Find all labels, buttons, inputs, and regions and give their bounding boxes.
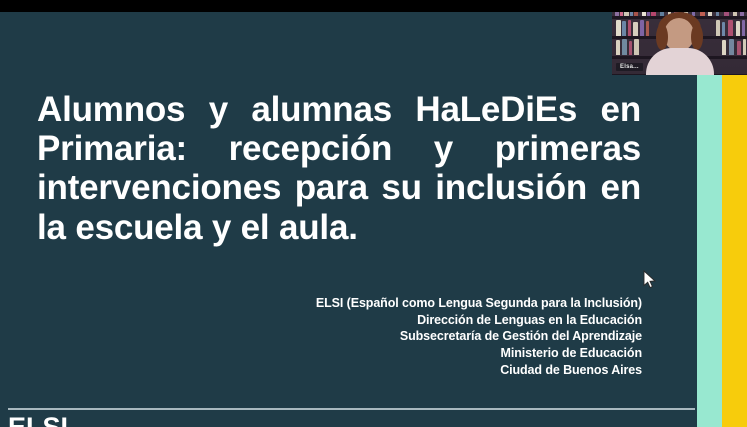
affiliation-line-1: ELSI (Español como Lengua Segunda para l… [316,295,642,312]
book [640,20,644,36]
book [616,20,621,36]
screen-share-view: Alumnos y alumnas HaLeDiEs en Primaria: … [0,0,747,427]
book [737,41,741,55]
affiliation-line-4: Ministerio de Educación [316,345,642,362]
book [629,41,632,55]
letterbox-bar-top [0,0,747,12]
book [728,20,733,36]
book [743,39,746,55]
book [742,20,745,36]
slide-divider-rule [8,408,695,410]
webcam-participant-hair-left [656,24,668,50]
book [622,39,627,55]
webcam-participant-head [664,18,694,51]
webcam-participant-name-label: Elsa... [616,63,643,71]
webcam-participant-hair-right [691,24,703,50]
book [646,21,649,36]
book [729,39,734,55]
book [634,39,639,55]
book [722,22,725,36]
book [716,20,720,36]
affiliation-line-5: Ciudad de Buenos Aires [316,362,642,379]
slide-affiliation-block: ELSI (Español como Lengua Segunda para l… [316,295,642,378]
slide-footer-text: ELSI [8,414,308,427]
book [633,22,638,36]
affiliation-line-2: Dirección de Lenguas en la Educación [316,312,642,329]
presentation-slide: Alumnos y alumnas HaLeDiEs en Primaria: … [0,12,697,427]
book [736,21,740,36]
book [722,40,726,55]
book [616,40,620,55]
book [622,21,626,36]
slide-footer-clipped: ELSI [8,414,308,427]
affiliation-line-3: Subsecretaría de Gestión del Aprendizaje [316,328,642,345]
book [628,20,631,36]
slide-title: Alumnos y alumnas HaLeDiEs en Primaria: … [37,90,641,247]
